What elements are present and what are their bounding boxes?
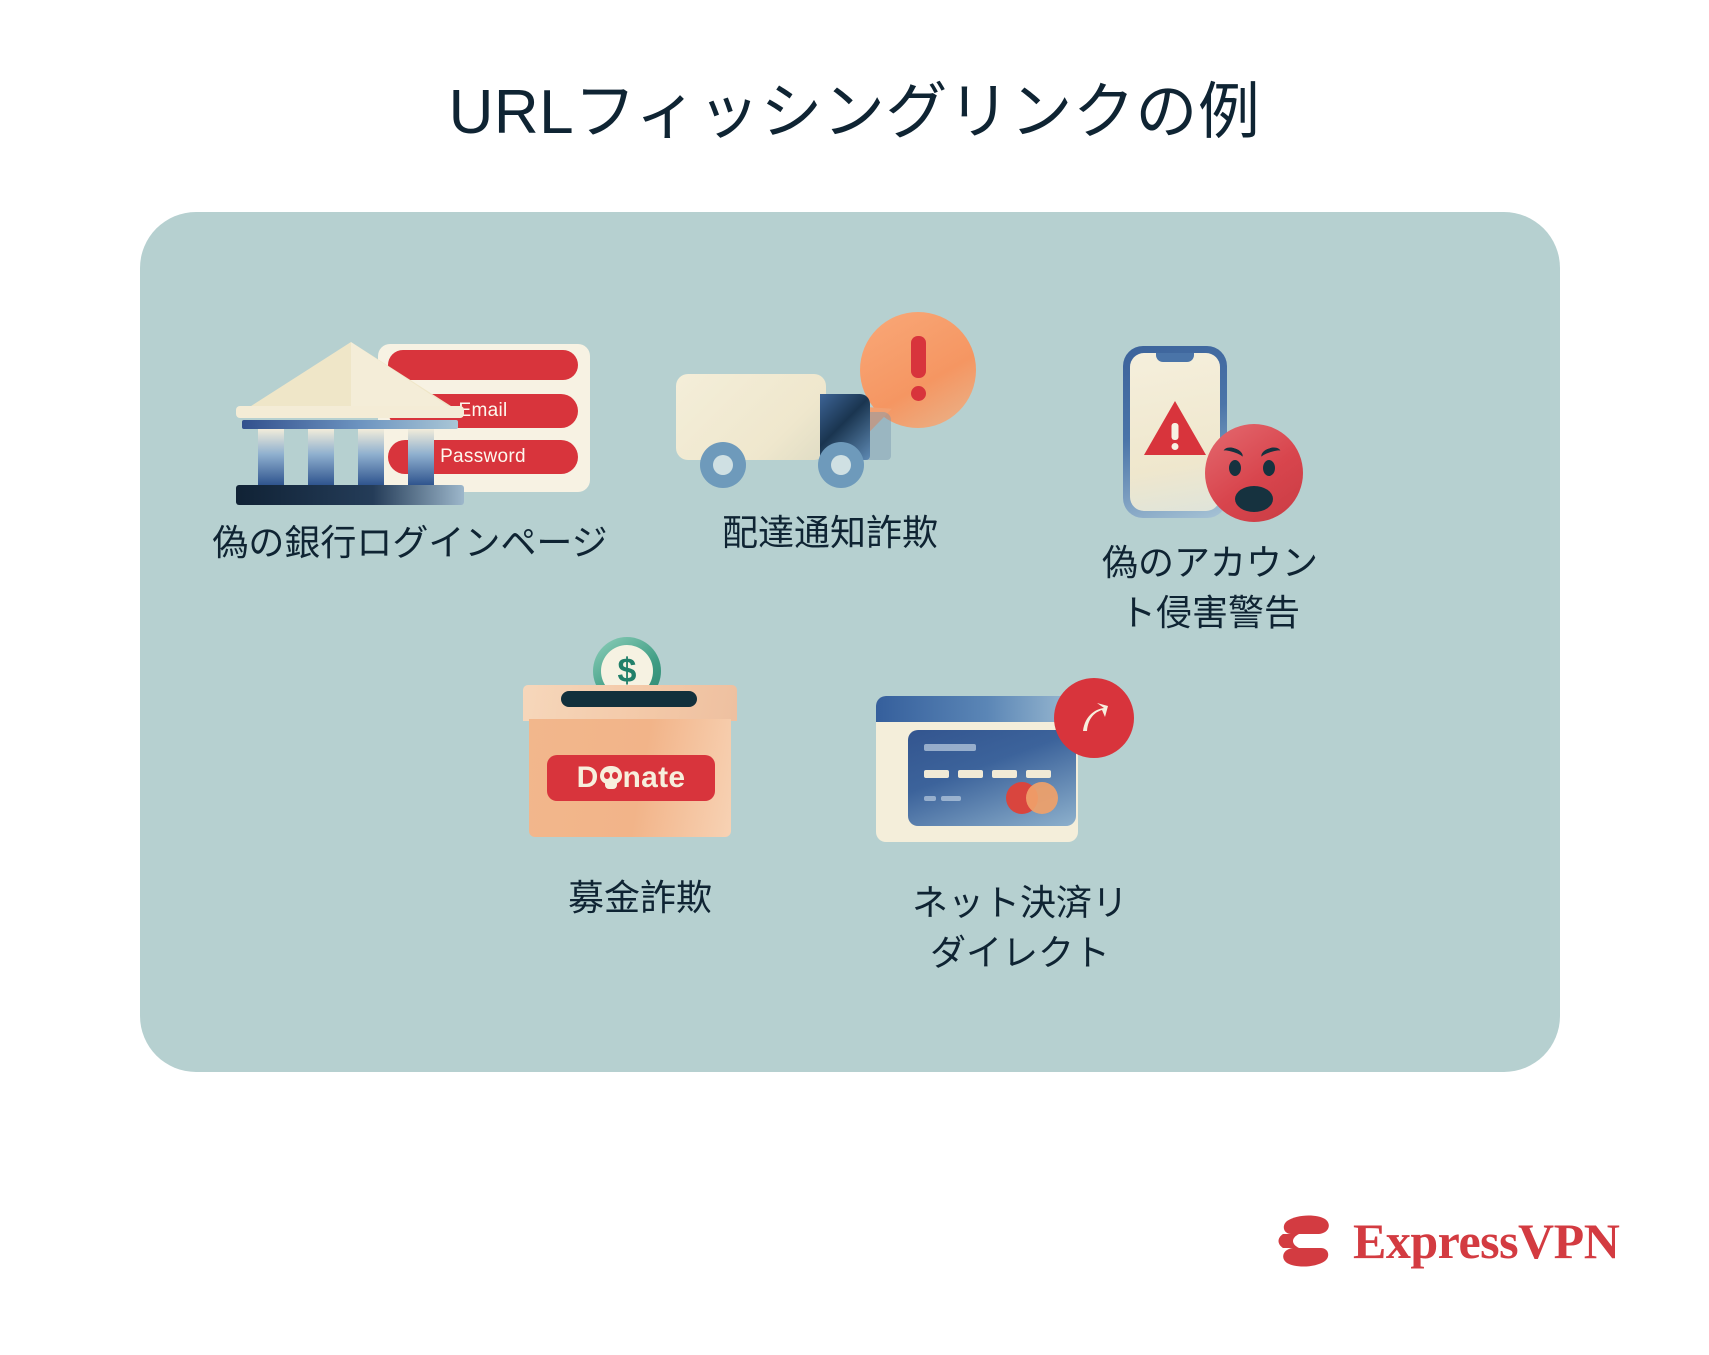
- item-fake-account-alert: 偽のアカウン ト侵害警告: [1000, 342, 1420, 637]
- warning-triangle-marks: [1144, 401, 1206, 455]
- bank-roof-sheen: [351, 342, 451, 408]
- warning-triangle-icon: [1144, 401, 1206, 455]
- exclamation-stem: [911, 336, 926, 378]
- donate-label-prefix: D: [577, 761, 599, 795]
- truck-wheel: [818, 442, 864, 488]
- skull-icon: [600, 766, 622, 790]
- payment-redirect-illustration: [870, 672, 1170, 872]
- warning-dot: [1172, 443, 1179, 450]
- sad-face-eye: [1263, 460, 1275, 476]
- card-strip: [924, 744, 976, 751]
- expressvpn-logo: ExpressVPN: [1275, 1213, 1619, 1269]
- item-caption: 偽の銀行ログインページ: [212, 518, 607, 568]
- expressvpn-logo-mark: [1275, 1213, 1337, 1269]
- bank-column: [308, 429, 334, 485]
- item-delivery-notification-scam: 配達通知詐欺: [640, 312, 1020, 558]
- donation-box-illustration: $ D nate: [515, 637, 765, 867]
- bank-column: [358, 429, 384, 485]
- card-number-block: [958, 770, 983, 778]
- card-logo-circle-orange: [1026, 782, 1058, 814]
- item-fake-bank-login: Email Password 偽の銀行ログインページ: [160, 332, 660, 568]
- item-donation-scam: $ D nate 募金詐欺: [430, 637, 850, 923]
- credit-card-icon: [908, 730, 1076, 826]
- truck-wheel: [700, 442, 746, 488]
- card-detail-block: [941, 796, 961, 801]
- bank-base: [236, 485, 464, 505]
- sad-face-eye: [1229, 460, 1241, 476]
- delivery-truck-illustration: [670, 312, 990, 502]
- donate-button[interactable]: D nate: [547, 755, 715, 801]
- item-caption: ネット決済リ ダイレクト: [912, 878, 1128, 977]
- card-number-blocks: [924, 770, 1051, 778]
- exclamation-icon: [911, 336, 926, 401]
- redirect-arrow-icon: [1054, 678, 1134, 758]
- item-online-payment-redirect: ネット決済リ ダイレクト: [800, 672, 1240, 977]
- donate-label-suffix: nate: [623, 761, 686, 795]
- skull-jaw: [605, 782, 617, 789]
- skull-eye: [604, 772, 610, 779]
- browser-title-bar: [876, 696, 1078, 722]
- item-caption: 配達通知詐欺: [722, 508, 938, 558]
- skull-eye: [612, 772, 618, 779]
- infographic-page: URLフィッシングリンクの例 Email Password: [0, 0, 1709, 1355]
- phone-warning-illustration: [1085, 342, 1335, 532]
- card-number-block: [1026, 770, 1051, 778]
- bank-column: [258, 429, 284, 485]
- sad-face-mouth: [1235, 486, 1273, 512]
- bank-column: [408, 429, 434, 485]
- exclamation-dot: [911, 386, 926, 401]
- bank-login-illustration: Email Password: [230, 332, 590, 512]
- content-panel: Email Password 偽の銀行ログインページ: [140, 212, 1560, 1072]
- donation-box-slot: [561, 691, 697, 707]
- expressvpn-logo-text: ExpressVPN: [1353, 1216, 1619, 1266]
- truck-cargo-body: [676, 374, 826, 460]
- card-number-block: [924, 770, 949, 778]
- card-detail-block: [924, 796, 936, 801]
- card-network-logo: [1006, 782, 1062, 814]
- bank-lintel: [242, 420, 458, 429]
- bank-architrave: [236, 406, 464, 418]
- item-caption: 募金詐欺: [568, 873, 712, 923]
- email-field-label: Email: [458, 400, 507, 422]
- password-field-label: Password: [440, 446, 526, 468]
- item-caption: 偽のアカウン ト侵害警告: [1102, 538, 1318, 637]
- warning-stem: [1172, 423, 1179, 440]
- card-detail-blocks: [924, 796, 961, 801]
- phone-notch: [1156, 353, 1194, 362]
- card-number-block: [992, 770, 1017, 778]
- page-title: URLフィッシングリンクの例: [0, 78, 1709, 147]
- sad-face-icon: [1205, 424, 1303, 522]
